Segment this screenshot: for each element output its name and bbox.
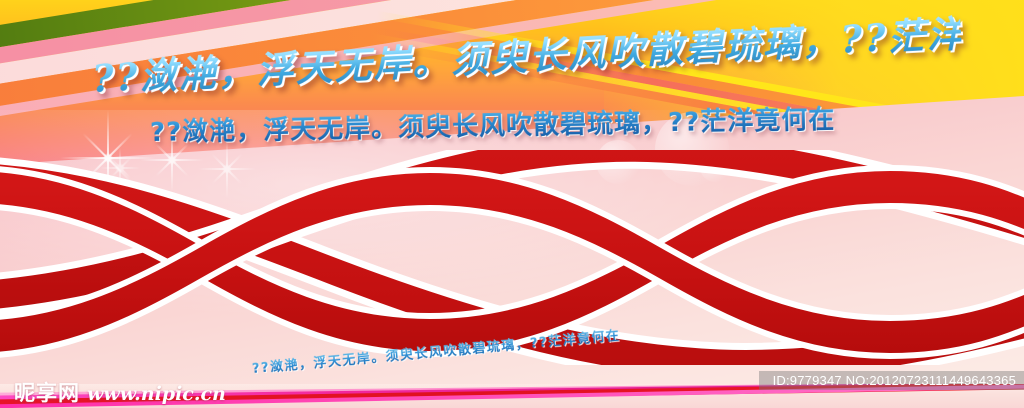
banner-canvas: ??潋滟，浮天无岸。须臾长风吹散碧琉璃，??茫洋竟何在 ??潋滟，浮天无岸。须臾…	[0, 0, 1024, 408]
footer-stripe-bar	[0, 384, 1024, 408]
woven-red-ribbon-overlay	[0, 150, 1024, 365]
